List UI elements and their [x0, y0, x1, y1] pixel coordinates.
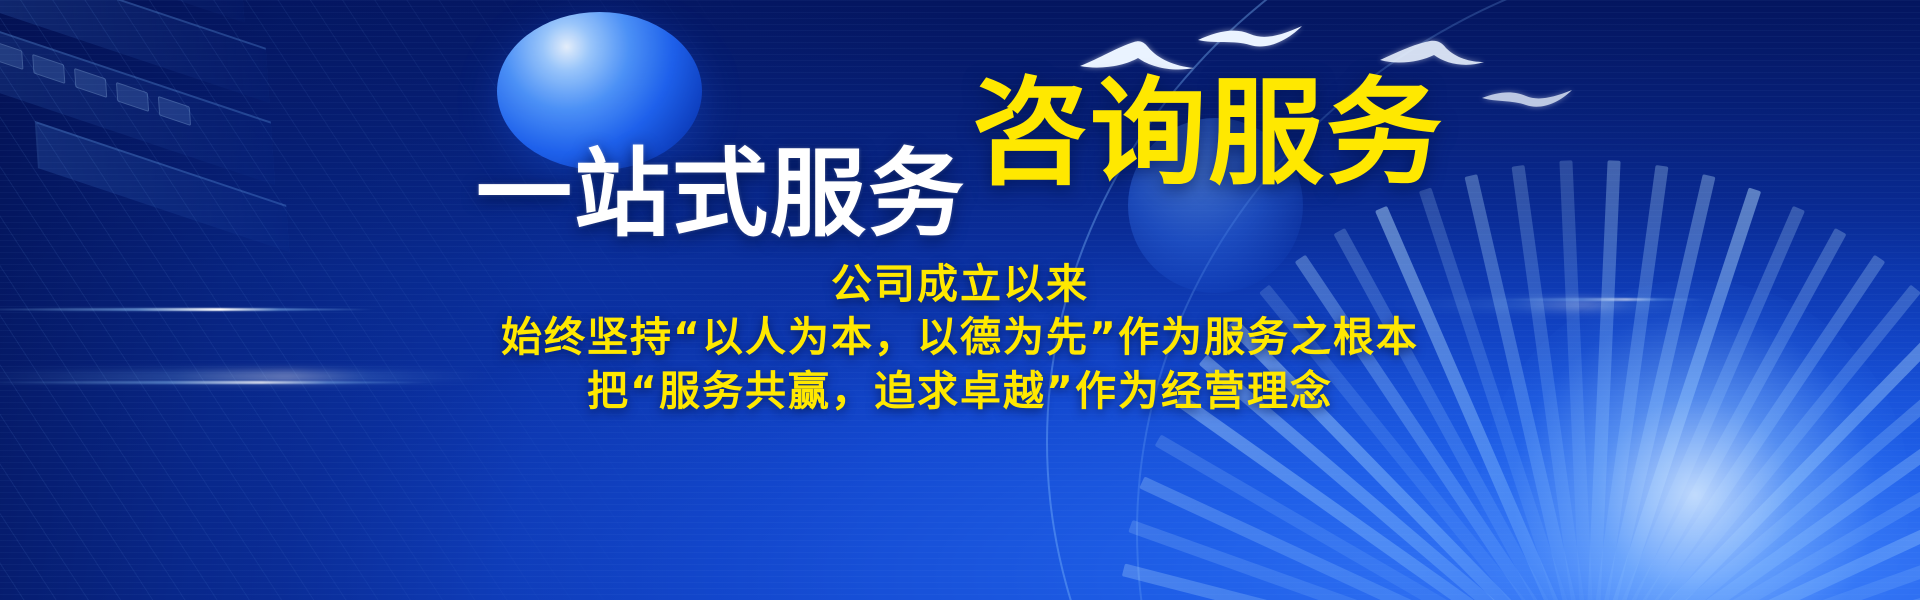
- seagull-icon-2: [1196, 24, 1306, 60]
- light-flare-4: [1380, 300, 1710, 309]
- glossy-sphere: [497, 12, 702, 170]
- seagull-icon-1: [1078, 38, 1198, 76]
- seagull-icon-4: [1480, 88, 1576, 118]
- seagull-icon-3: [1378, 38, 1486, 72]
- secondary-sphere: [1128, 118, 1303, 293]
- light-flare-5: [1490, 298, 1710, 301]
- promo-banner: 一站式服务 咨询服务 公司成立以来 始终坚持“以人为本，以德为先”作为服务之根本…: [0, 0, 1920, 600]
